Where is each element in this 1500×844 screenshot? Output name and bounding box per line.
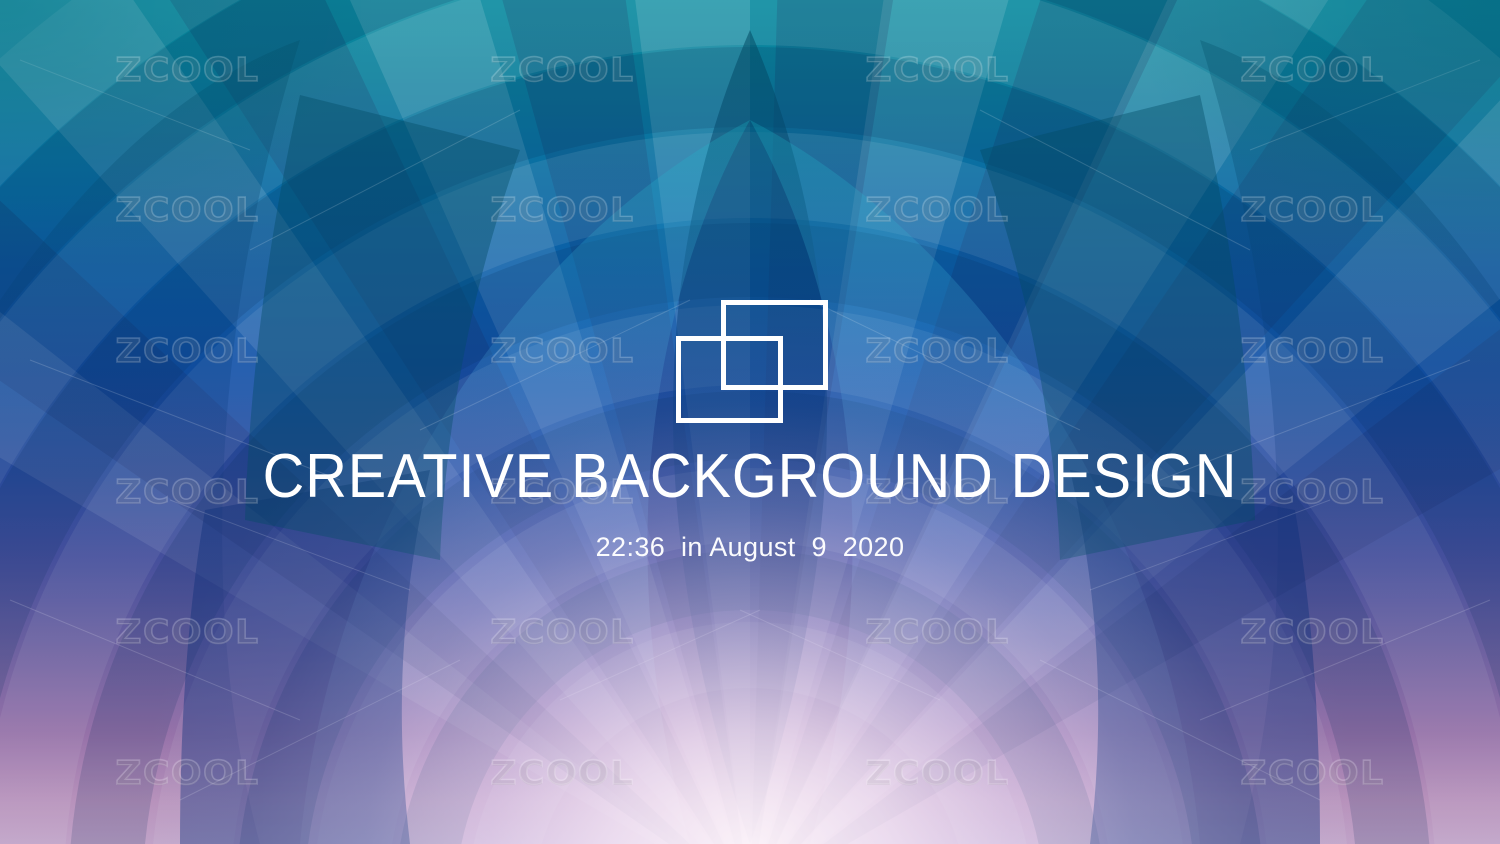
- logo-square-lower-left: [679, 339, 781, 421]
- poster-canvas: ZCOOL ZCOOL ZCOOL ZCOOL ZCOOL ZCOOL ZCOO…: [0, 0, 1500, 844]
- logo-square-upper-right: [724, 303, 826, 388]
- poster-content: CREATIVE BACKGROUND DESIGN 22:36 in Augu…: [0, 0, 1500, 844]
- page-title: CREATIVE BACKGROUND DESIGN: [53, 446, 1448, 508]
- page-subtitle: 22:36 in August 9 2020: [0, 534, 1500, 561]
- overlapping-squares-logo-icon: [676, 300, 828, 423]
